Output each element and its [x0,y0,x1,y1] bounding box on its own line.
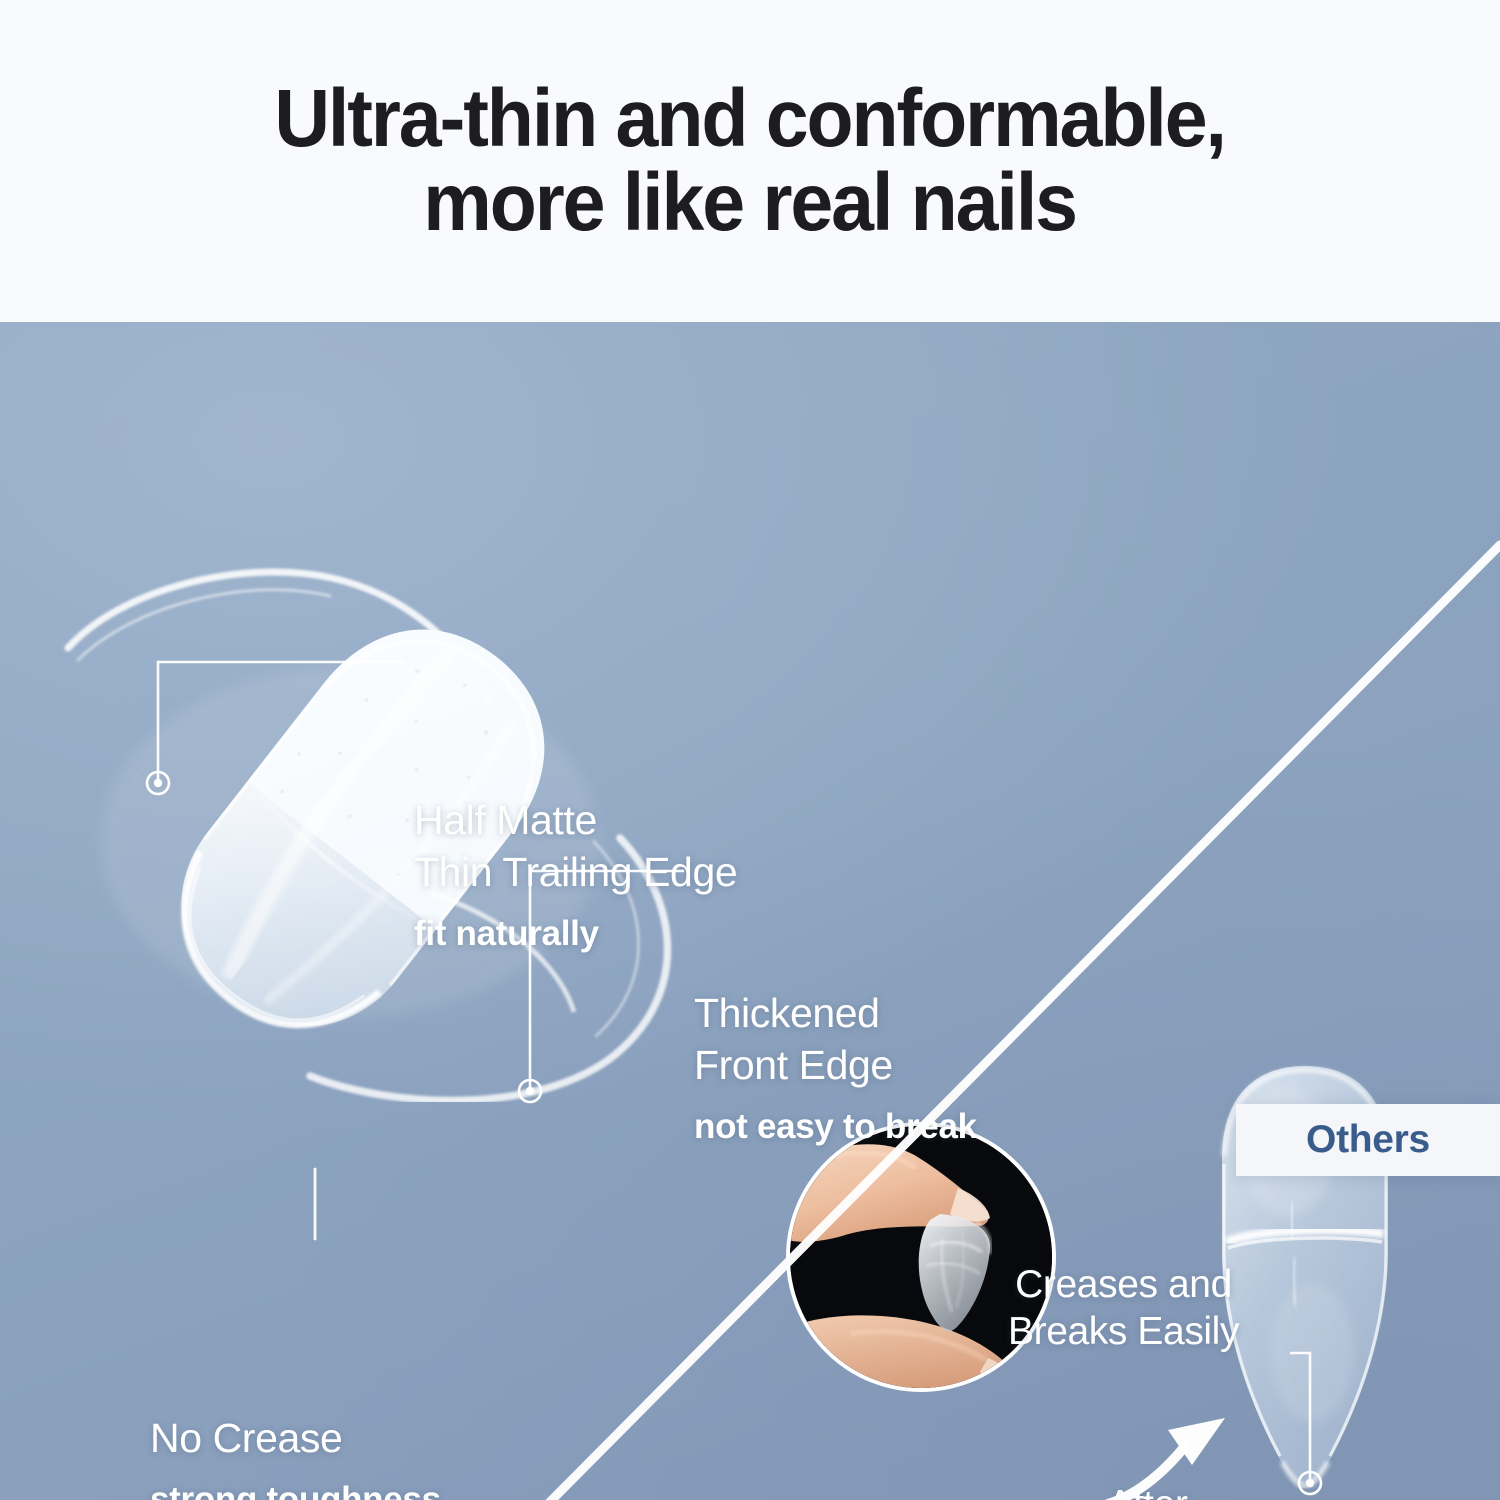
annotation-no-crease: No Crease strong toughness [150,1412,441,1500]
annotation-creases-line-1: Creases and [1008,1262,1239,1309]
annotation-thickened-line-1: Thickened [694,987,977,1039]
others-badge-label: Others [1306,1118,1430,1162]
annotation-no-crease-line-1: No Crease [150,1412,441,1464]
annotation-half-matte-subtitle: fit naturally [414,914,737,954]
callout-overlay [0,322,1500,1500]
comparison-stage: Modelones Others Half Matte Thin Trailin… [0,322,1500,1500]
annotation-after-bend: After Bend [1098,1482,1187,1500]
header-banner: Ultra-thin and conformable, more like re… [0,0,1500,322]
annotation-half-matte-line-1: Half Matte [414,794,737,846]
annotation-thickened-subtitle: not easy to break [694,1107,977,1147]
headline-line-2: more like real nails [275,161,1226,245]
brand-badge-others: Others [1236,1104,1500,1176]
annotation-creases-breaks: Creases and Breaks Easily [1008,1262,1239,1356]
headline-line-1: Ultra-thin and conformable, [275,73,1226,164]
annotation-thickened-front-edge: Thickened Front Edge not easy to break [694,987,977,1147]
annotation-after-bend-line-1: After [1098,1482,1187,1500]
callout-half-matte [147,662,404,794]
annotation-no-crease-subtitle: strong toughness [150,1480,441,1500]
annotation-half-matte: Half Matte Thin Trailing Edge fit natura… [414,794,737,954]
callout-creases-breaks [1290,1353,1321,1494]
annotation-half-matte-line-2: Thin Trailing Edge [414,846,737,898]
page-title: Ultra-thin and conformable, more like re… [275,77,1226,244]
annotation-thickened-line-2: Front Edge [694,1039,977,1091]
annotation-creases-line-2: Breaks Easily [1008,1309,1239,1356]
